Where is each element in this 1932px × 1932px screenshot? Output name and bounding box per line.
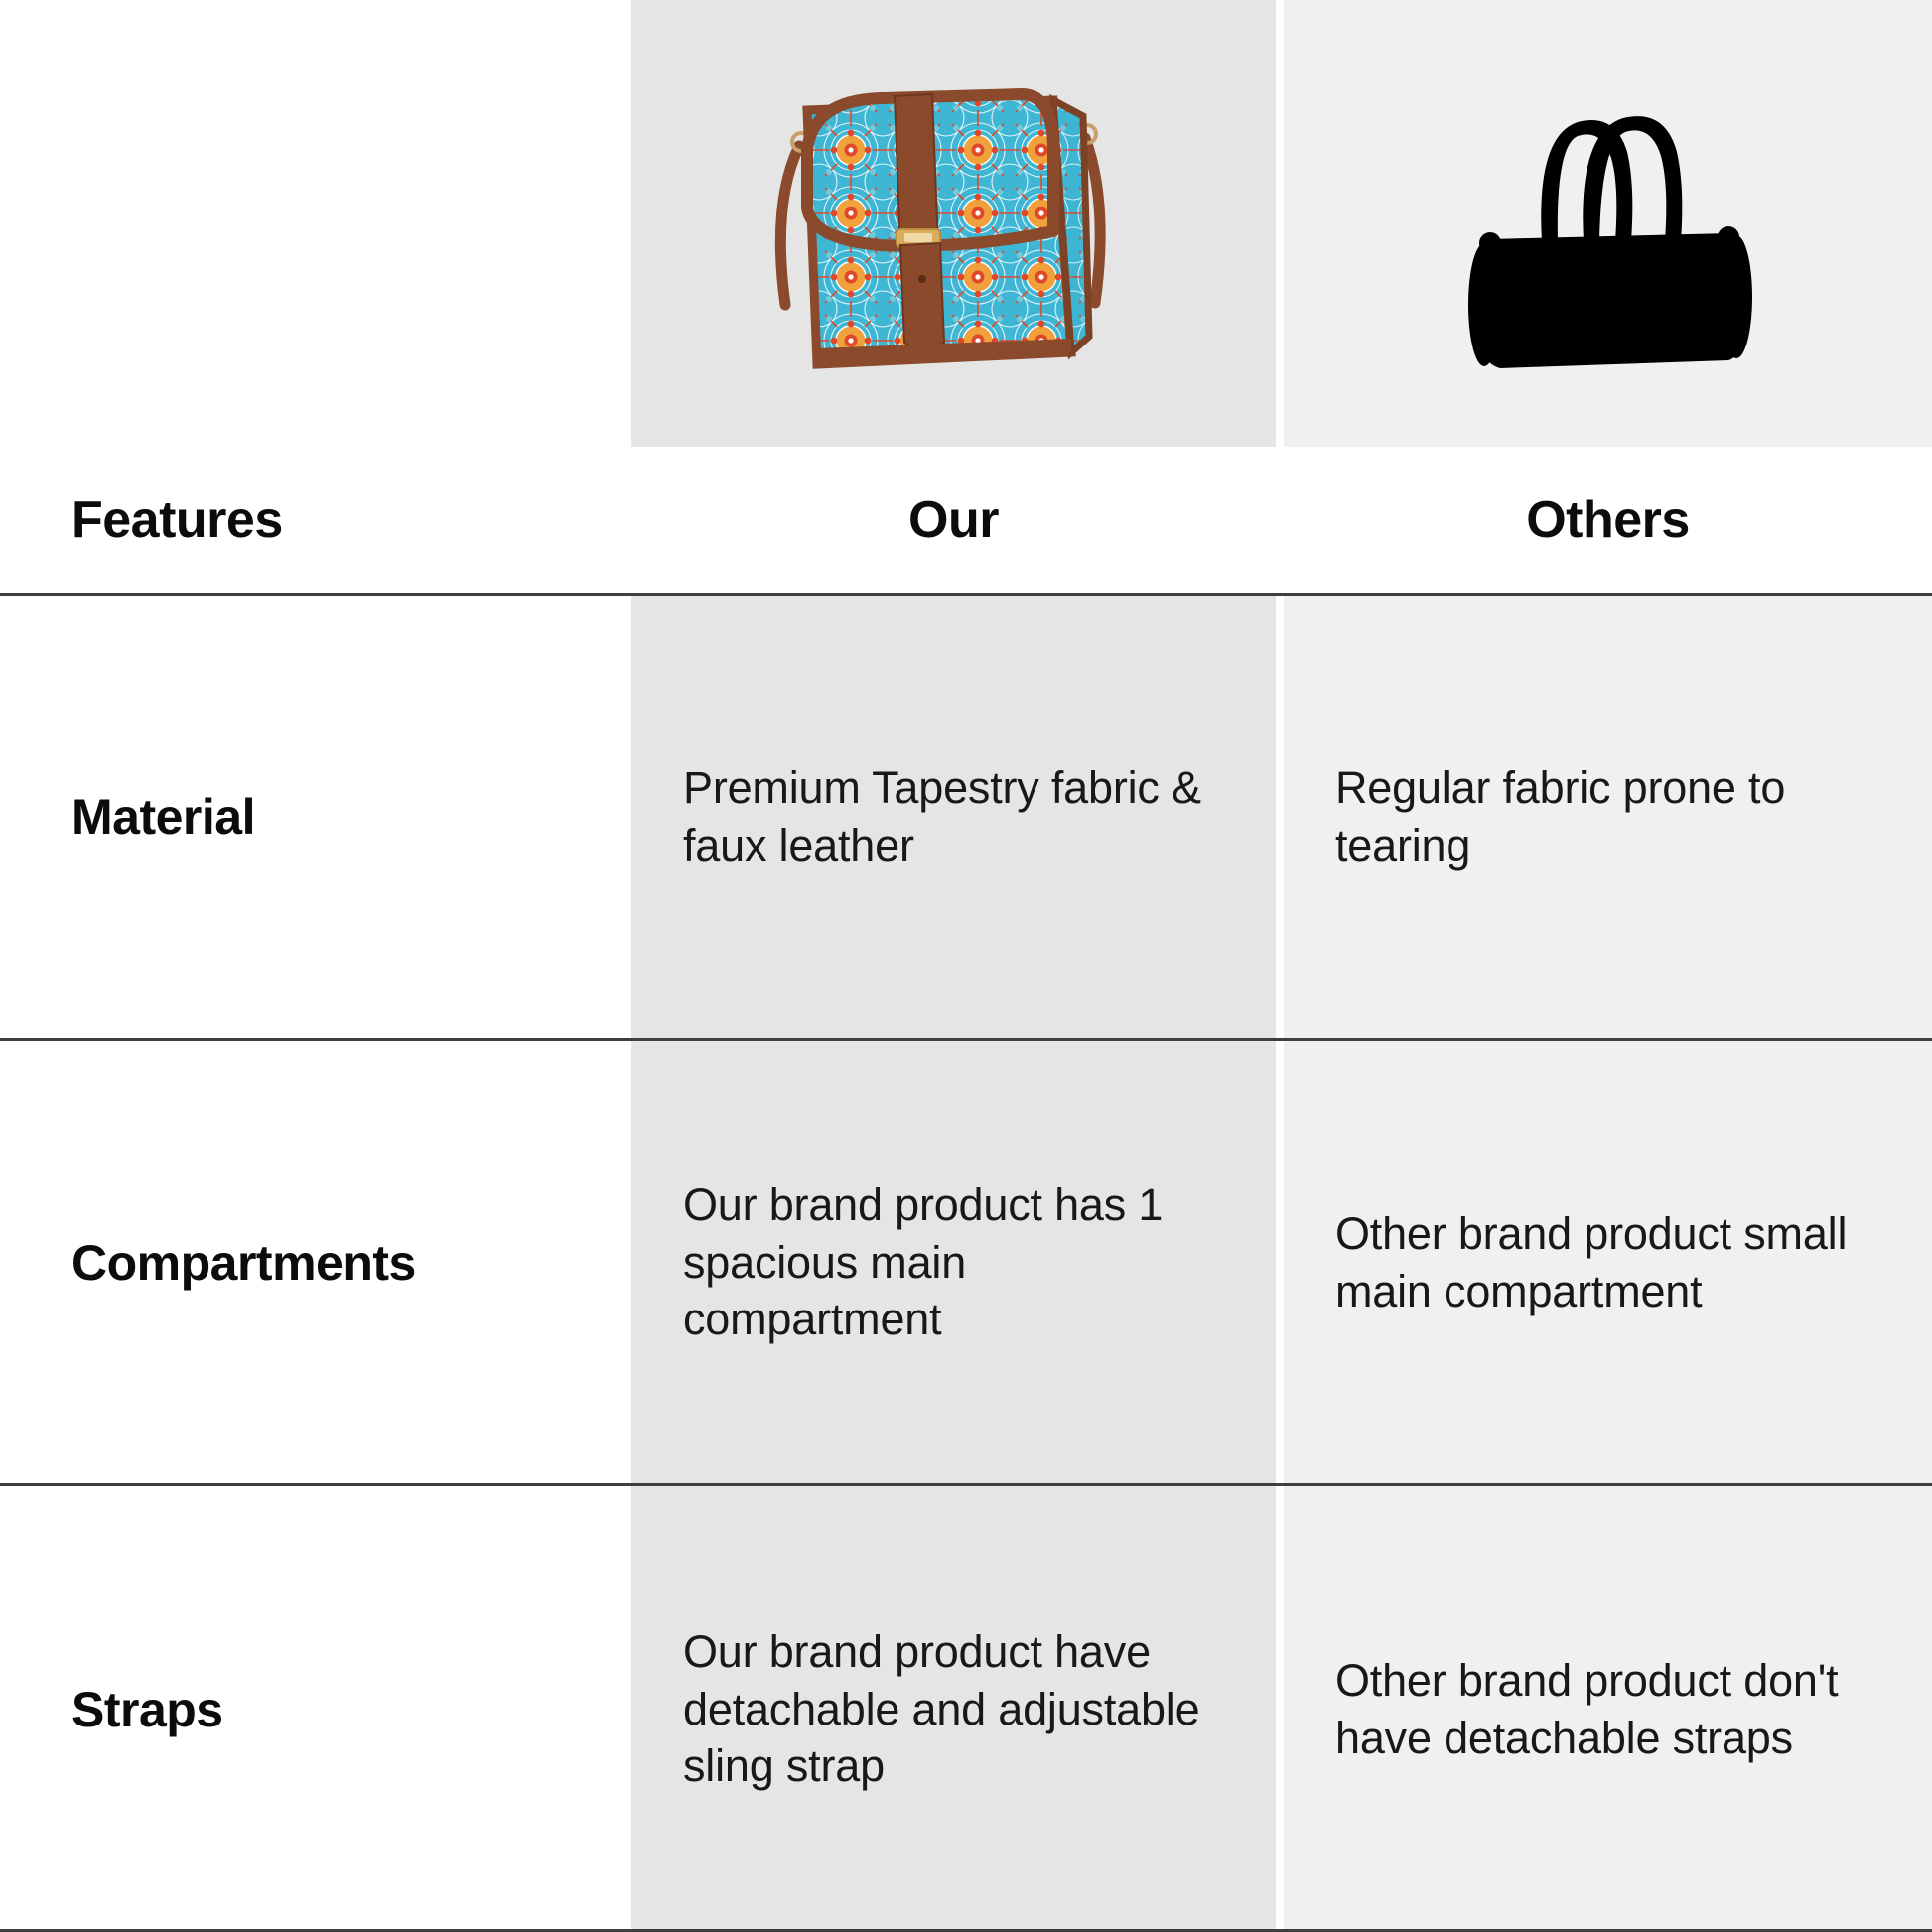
row-divider-top	[0, 593, 1932, 596]
row-feature-cell: Straps	[0, 1486, 631, 1932]
table-row: Material Premium Tapestry fabric & faux …	[0, 596, 1932, 1038]
row-our-cell: Our brand product have detachable and ad…	[631, 1486, 1276, 1932]
row-our-cell: Premium Tapestry fabric & faux leather	[631, 596, 1276, 1038]
row-divider-material	[0, 1038, 1932, 1041]
bag-buckle	[897, 229, 944, 348]
product-comparison-table: Features Our Others Material Premium Tap…	[0, 0, 1932, 1932]
feature-label: Straps	[71, 1681, 223, 1738]
row-our-cell: Our brand product has 1 spacious main co…	[631, 1041, 1276, 1483]
tapestry-sling-bag-image	[756, 55, 1153, 392]
header-our-label: Our	[908, 490, 999, 550]
our-value-text: Our brand product has 1 spacious main co…	[683, 1176, 1214, 1348]
product-image-strip	[0, 0, 1932, 447]
row-others-cell: Regular fabric prone to tearing	[1284, 596, 1932, 1038]
feature-label: Compartments	[71, 1234, 416, 1292]
header-others: Others	[1284, 447, 1932, 593]
our-value-text: Premium Tapestry fabric & faux leather	[683, 759, 1214, 874]
header-our: Our	[631, 447, 1276, 593]
our-value-text: Our brand product have detachable and ad…	[683, 1623, 1214, 1795]
others-value-text: Other brand product don't have detachabl…	[1335, 1652, 1876, 1766]
table-row: Compartments Our brand product has 1 spa…	[0, 1041, 1932, 1483]
header-others-label: Others	[1526, 490, 1690, 550]
others-product-image-cell	[1284, 0, 1932, 447]
bag-front-strap	[895, 94, 938, 251]
row-others-cell: Other brand product don't have detachabl…	[1284, 1486, 1932, 1932]
row-feature-cell: Compartments	[0, 1041, 631, 1483]
row-divider-compartments	[0, 1483, 1932, 1486]
table-header-row: Features Our Others	[0, 447, 1932, 593]
row-feature-cell: Material	[0, 596, 631, 1038]
black-duffel-bag-silhouette-image	[1445, 74, 1772, 372]
our-product-image-cell	[631, 0, 1276, 447]
header-features-label: Features	[71, 490, 283, 550]
header-features: Features	[0, 447, 631, 593]
others-value-text: Regular fabric prone to tearing	[1335, 759, 1876, 874]
feature-label: Material	[71, 788, 255, 846]
others-value-text: Other brand product small main compartme…	[1335, 1205, 1876, 1319]
row-others-cell: Other brand product small main compartme…	[1284, 1041, 1932, 1483]
table-row: Straps Our brand product have detachable…	[0, 1486, 1932, 1932]
